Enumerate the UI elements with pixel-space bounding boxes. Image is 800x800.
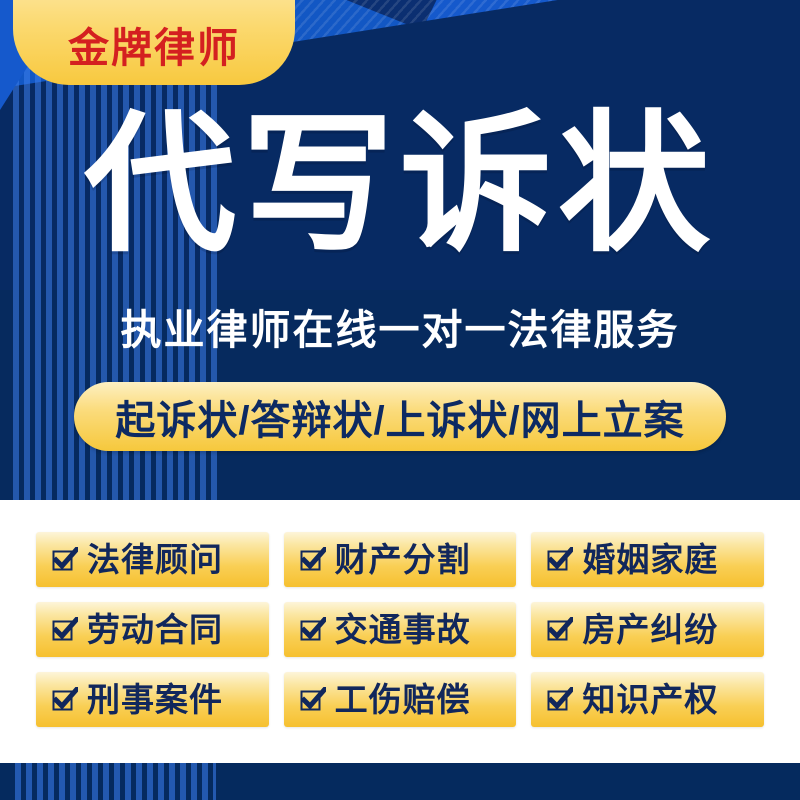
page-title-text: 代写诉状 [84, 108, 716, 263]
footer-bar [0, 763, 800, 800]
checkbox-checked-icon [52, 547, 78, 573]
practice-area-tag[interactable]: 婚姻家庭 [531, 532, 764, 587]
practice-area-tag-label: 交通事故 [335, 613, 471, 646]
page-title: 代写诉状 [0, 108, 800, 263]
checkbox-checked-icon [300, 617, 326, 643]
page-subtitle-text: 执业律师在线一对一法律服务 [121, 307, 680, 353]
checkbox-checked-icon [547, 547, 573, 573]
practice-area-tag[interactable]: 工伤赔偿 [284, 672, 517, 727]
gold-lawyer-badge: 金牌律师 [13, 0, 295, 85]
checkbox-checked-icon [300, 547, 326, 573]
checkbox-checked-icon [300, 687, 326, 713]
practice-area-tag-label: 房产纠纷 [582, 613, 718, 646]
practice-area-tag[interactable]: 劳动合同 [36, 602, 269, 657]
practice-area-tag[interactable]: 刑事案件 [36, 672, 269, 727]
checkbox-checked-icon [547, 687, 573, 713]
practice-area-tag[interactable]: 法律顾问 [36, 532, 269, 587]
practice-area-tag-label: 刑事案件 [87, 683, 223, 716]
gold-lawyer-badge-label: 金牌律师 [68, 28, 240, 69]
service-list-pill-label: 起诉状/答辩状/上诉状/网上立案 [115, 388, 684, 446]
hero-section: 金牌律师 代写诉状 执业律师在线一对一法律服务 起诉状/答辩状/上诉状/网上立案 [0, 0, 800, 500]
practice-area-section: 法律顾问 财产分割 婚姻家庭 [0, 500, 800, 763]
lawyer-service-poster: 金牌律师 代写诉状 执业律师在线一对一法律服务 起诉状/答辩状/上诉状/网上立案 [0, 0, 800, 800]
practice-area-tag[interactable]: 财产分割 [284, 532, 517, 587]
practice-area-tag[interactable]: 知识产权 [531, 672, 764, 727]
checkbox-checked-icon [52, 617, 78, 643]
practice-area-tag-label: 婚姻家庭 [582, 543, 718, 576]
practice-area-tag[interactable]: 房产纠纷 [531, 602, 764, 657]
practice-area-tag[interactable]: 交通事故 [284, 602, 517, 657]
footer-vertical-stripe-pattern [10, 763, 216, 800]
practice-area-tag-label: 劳动合同 [87, 613, 223, 646]
practice-area-tag-label: 工伤赔偿 [335, 683, 471, 716]
practice-area-tag-label: 知识产权 [582, 683, 718, 716]
practice-area-tag-label: 法律顾问 [87, 543, 223, 576]
practice-area-tag-label: 财产分割 [335, 543, 471, 576]
service-list-pill: 起诉状/答辩状/上诉状/网上立案 [74, 382, 726, 451]
page-subtitle: 执业律师在线一对一法律服务 [0, 296, 800, 356]
practice-area-grid: 法律顾问 财产分割 婚姻家庭 [36, 532, 764, 727]
checkbox-checked-icon [547, 617, 573, 643]
checkbox-checked-icon [52, 687, 78, 713]
